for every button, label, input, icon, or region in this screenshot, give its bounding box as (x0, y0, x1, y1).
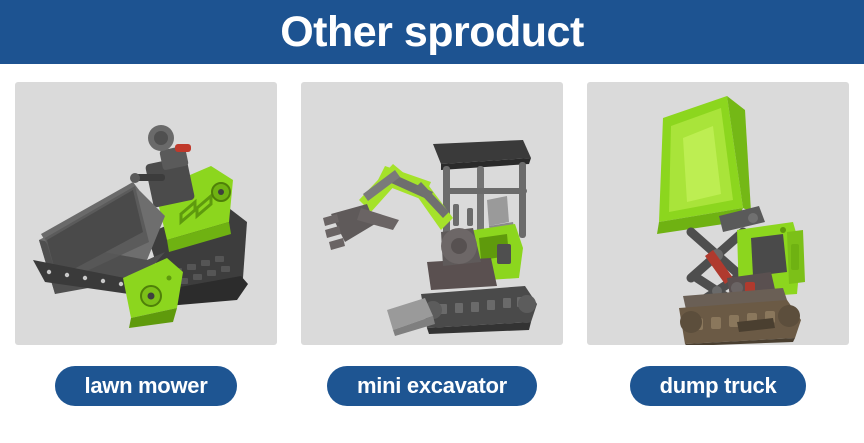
product-button-dump-truck[interactable]: dump truck (630, 366, 807, 406)
other-products-banner-page: Other sproduct (0, 0, 864, 443)
product-grid: lawn mower (0, 64, 864, 443)
product-button-mini-excavator[interactable]: mini excavator (327, 366, 537, 406)
product-card-dump-truck[interactable]: dump truck (586, 82, 850, 443)
page-banner: Other sproduct (0, 0, 864, 64)
lawn-mower-illustration (15, 82, 277, 345)
product-card-mini-excavator[interactable]: mini excavator (300, 82, 564, 443)
page-title: Other sproduct (280, 11, 584, 54)
product-image-lawn-mower[interactable] (15, 82, 277, 345)
product-image-dump-truck[interactable] (587, 82, 849, 345)
product-image-mini-excavator[interactable] (301, 82, 563, 345)
product-button-lawn-mower[interactable]: lawn mower (55, 366, 238, 406)
dump-truck-illustration (587, 82, 849, 345)
product-card-lawn-mower[interactable]: lawn mower (14, 82, 278, 443)
mini-excavator-illustration (301, 82, 563, 345)
